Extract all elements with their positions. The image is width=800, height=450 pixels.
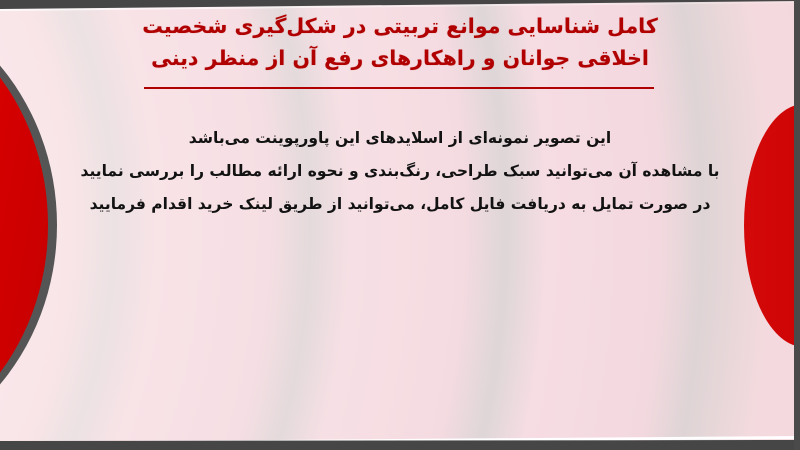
slide-content: کامل شناسایی موانع تربیتی در شکل‌گیری شخ… <box>0 0 800 450</box>
slide-title-underline <box>144 87 654 89</box>
slide-title-line-2: اخلاقی جوانان و راهکارهای رفع آن از منظر… <box>40 42 760 74</box>
slide-title: کامل شناسایی موانع تربیتی در شکل‌گیری شخ… <box>40 10 760 74</box>
presentation-slide: کامل شناسایی موانع تربیتی در شکل‌گیری شخ… <box>0 0 800 450</box>
slide-title-line-1: کامل شناسایی موانع تربیتی در شکل‌گیری شخ… <box>40 10 760 42</box>
slide-body-text: این تصویر نمونه‌ای از اسلایدهای این پاور… <box>40 122 760 221</box>
slide-body-line-2: با مشاهده آن می‌توانید سبک طراحی، رنگ‌بن… <box>40 155 760 188</box>
slide-body-line-3: در صورت تمایل به دریافت فایل کامل، می‌تو… <box>40 188 760 221</box>
slide-body-line-1: این تصویر نمونه‌ای از اسلایدهای این پاور… <box>40 122 760 155</box>
